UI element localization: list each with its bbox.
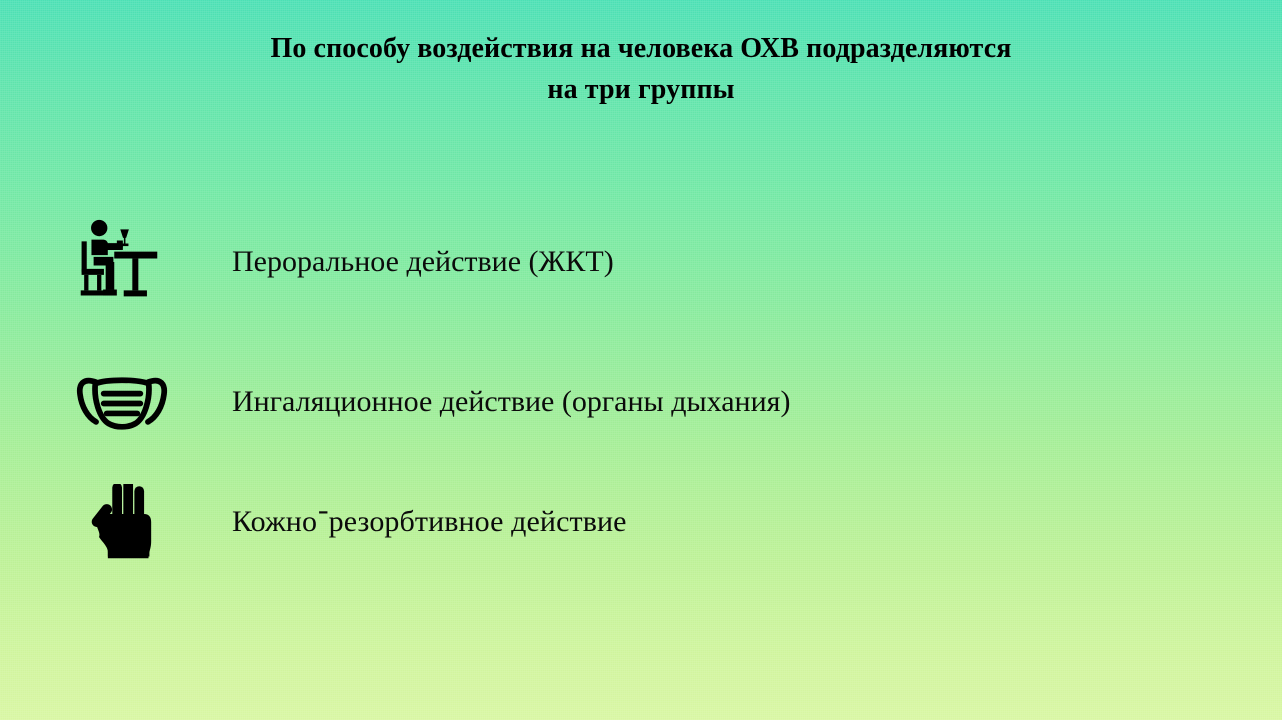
slide-canvas: По способу воздействия на человека ОХВ п… [0,0,1282,720]
face-mask-icon [0,372,232,432]
group-row-dermal: Кожно־резорбтивное действие [0,472,1282,572]
group-row-oral: Пероральное действие (ЖКТ) [0,212,1282,312]
group-label-oral: Пероральное действие (ЖКТ) [232,245,614,279]
slide-title: По способу воздействия на человека ОХВ п… [0,28,1282,110]
title-line-2: на три группы [0,69,1282,110]
title-line-1: По способу воздействия на человека ОХВ п… [0,28,1282,69]
group-row-inhalation: Ингаляционное действие (органы дыхания) [0,352,1282,452]
group-label-inhalation: Ингаляционное действие (органы дыхания) [232,385,790,419]
hand-palm-icon [0,479,232,565]
group-label-dermal: Кожно־резорбтивное действие [232,505,627,539]
person-eating-at-table-icon [0,219,232,305]
